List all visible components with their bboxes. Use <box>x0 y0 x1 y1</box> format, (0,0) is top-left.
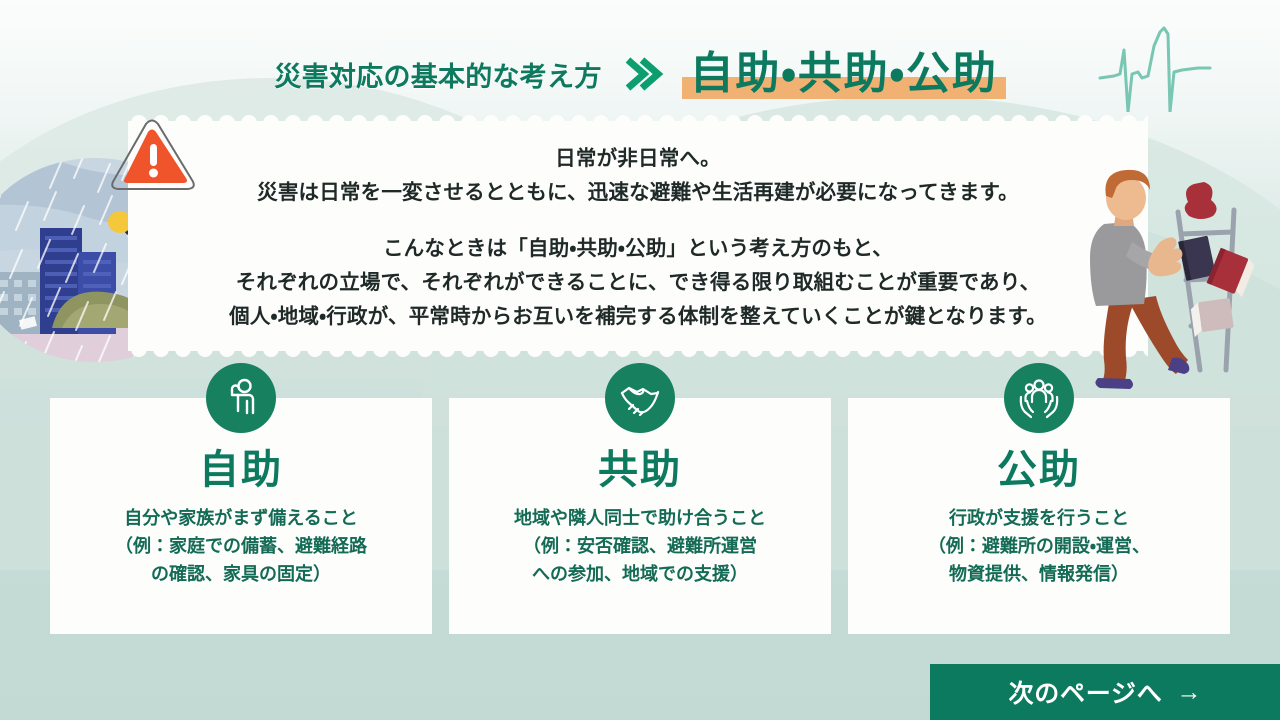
page-title-text: 自助・共助・公助 <box>690 49 998 98</box>
panel-spacer <box>186 210 1090 232</box>
next-page-label: 次のページへ <box>1008 674 1162 710</box>
card-description: 行政が支援を行うこと （例：避難所の開設・運営、 物資提供、情報発信） <box>848 504 1230 588</box>
next-page-button[interactable]: 次のページへ → <box>930 664 1280 720</box>
card-description: 地域や隣人同士で助け合うこと （例：安否確認、避難所運営 への参加、地域での支援… <box>449 504 831 588</box>
card-jijo[interactable]: 自助 自分や家族がまず備えること （例：家庭での備蓄、避難経路 の確認、家具の固… <box>50 398 432 634</box>
card-desc-line: の確認、家具の固定） <box>68 560 414 588</box>
page-title: 自助・共助・公助 <box>682 52 1006 96</box>
hands-holding-people-icon <box>1004 363 1074 433</box>
panel-line-1: 日常が非日常へ。 <box>186 142 1090 176</box>
double-chevron-right-icon <box>620 52 664 96</box>
handshake-icon <box>605 363 675 433</box>
card-desc-line: （例：安否確認、避難所運営 <box>467 532 813 560</box>
card-title: 公助 <box>848 450 1230 490</box>
card-desc-line: 物資提供、情報発信） <box>866 560 1212 588</box>
card-title: 自助 <box>50 450 432 490</box>
slide-header: 災害対応の基本的な考え方 自助・共助・公助 <box>0 38 1280 110</box>
slide-canvas: 災害対応の基本的な考え方 自助・共助・公助 <box>0 0 1280 720</box>
card-kyojo[interactable]: 共助 地域や隣人同士で助け合うこと （例：安否確認、避難所運営 への参加、地域で… <box>449 398 831 634</box>
warning-triangle-icon <box>106 116 202 204</box>
concept-cards: 自助 自分や家族がまず備えること （例：家庭での備蓄、避難経路 の確認、家具の固… <box>50 398 1230 634</box>
card-description: 自分や家族がまず備えること （例：家庭での備蓄、避難経路 の確認、家具の固定） <box>50 504 432 588</box>
person-raising-hand-icon <box>206 363 276 433</box>
panel-line-5: 個人・地域・行政が、平常時からお互いを補完する体制を整えていくことが鍵となります… <box>186 300 1090 334</box>
intro-panel: 日常が非日常へ。 災害は日常を一変させるとともに、迅速な避難や生活再建が必要にな… <box>128 112 1148 360</box>
panel-line-4: それぞれの立場で、それぞれができることに、でき得る限り取組むことが重要であり、 <box>186 266 1090 300</box>
panel-scallop-top <box>128 112 1148 123</box>
panel-line-2: 災害は日常を一変させるとともに、迅速な避難や生活再建が必要になってきます。 <box>186 176 1090 210</box>
panel-line-3: こんなときは「自助・共助・公助」という考え方のもと、 <box>186 232 1090 266</box>
card-kojo[interactable]: 公助 行政が支援を行うこと （例：避難所の開設・運営、 物資提供、情報発信） <box>848 398 1230 634</box>
panel-scallop-bottom <box>128 349 1148 360</box>
arrow-right-icon: → <box>1177 680 1202 705</box>
card-desc-line: への参加、地域での支援） <box>467 560 813 588</box>
card-desc-line: 地域や隣人同士で助け合うこと <box>467 504 813 532</box>
card-desc-line: 自分や家族がまず備えること <box>68 504 414 532</box>
card-title: 共助 <box>449 450 831 490</box>
header-kicker: 災害対応の基本的な考え方 <box>274 55 601 94</box>
card-desc-line: （例：避難所の開設・運営、 <box>866 532 1212 560</box>
card-desc-line: （例：家庭での備蓄、避難経路 <box>68 532 414 560</box>
panel-text: 日常が非日常へ。 災害は日常を一変させるとともに、迅速な避難や生活再建が必要にな… <box>186 142 1090 334</box>
person-falling-shelf-illustration <box>1050 160 1280 390</box>
card-desc-line: 行政が支援を行うこと <box>866 504 1212 532</box>
